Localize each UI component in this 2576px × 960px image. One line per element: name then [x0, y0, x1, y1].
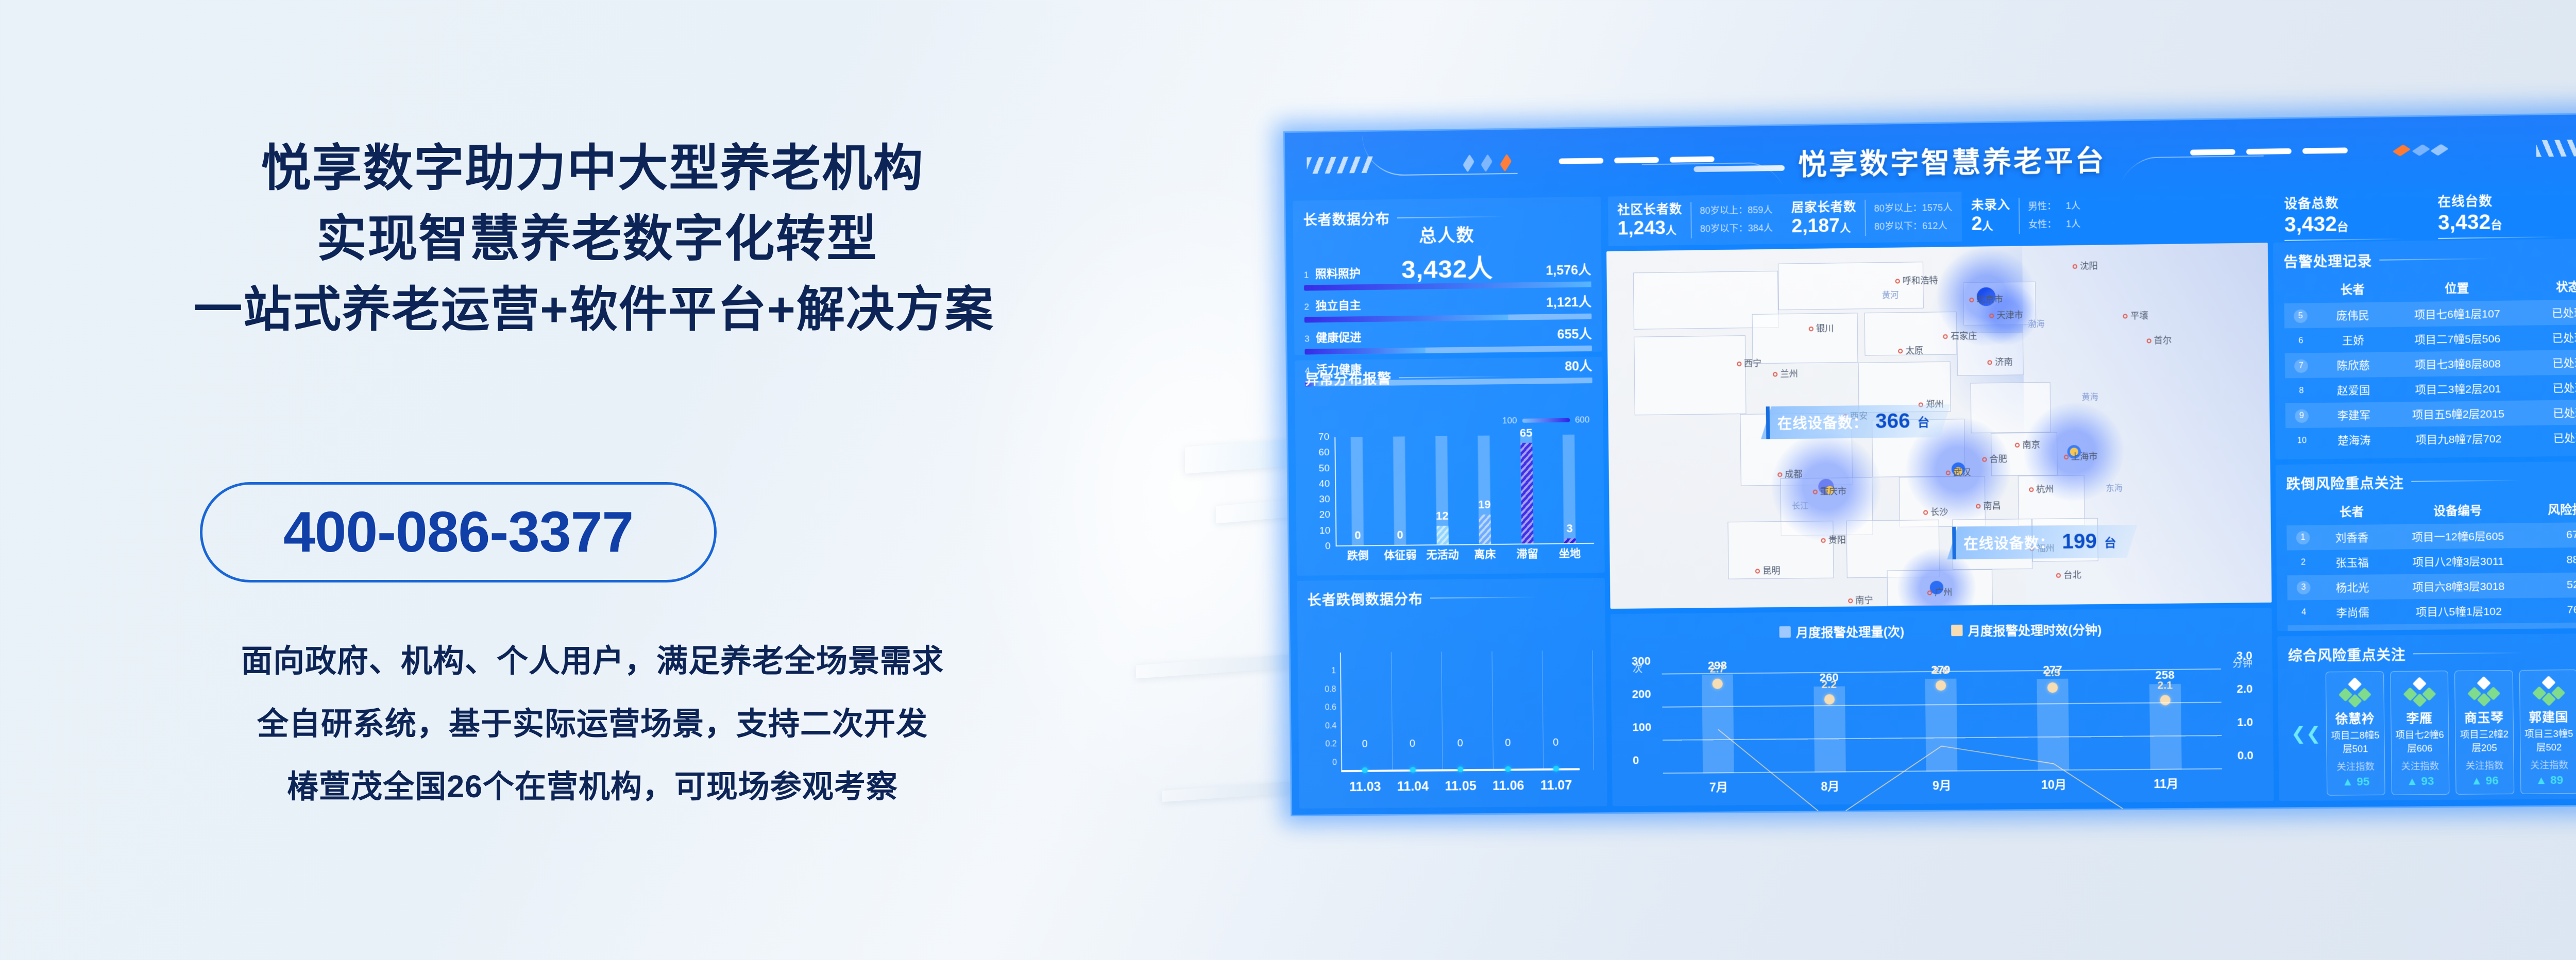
data-point-label: 0 — [1457, 738, 1463, 749]
device-stat: 设备总数3,432台 — [2284, 192, 2403, 237]
stat-sub-line: 80岁以上：1575人 — [1874, 199, 1953, 218]
row-index: 9 — [2285, 403, 2318, 428]
risk-index-label: 关注指数 — [2522, 758, 2575, 772]
map-city-marker-icon — [1773, 372, 1777, 376]
abnormal-alarm-title: 异常分布报警 — [1305, 365, 1592, 389]
x-axis-label: 体征弱 — [1379, 546, 1422, 568]
map-city-label: 南京 — [2015, 437, 2040, 450]
phone-number: 400-086-3377 — [283, 504, 633, 561]
map-city-label: 济南 — [1988, 354, 2013, 368]
map-city-marker-icon — [2146, 339, 2151, 344]
cell-score: 67 — [2531, 522, 2576, 547]
table-column-header: 风险指数 — [2531, 496, 2576, 523]
data-point — [1553, 766, 1559, 772]
bar-value-label: 65 — [1520, 426, 1533, 440]
map-city-marker-icon — [1923, 510, 1928, 515]
map-province — [1752, 313, 1858, 364]
map-city-label: 上海市 — [2064, 449, 2098, 462]
map-city-marker-icon — [2056, 573, 2061, 578]
map-city-marker-icon — [1982, 457, 1987, 462]
combo-column: 2582.1 — [2109, 670, 2222, 770]
y-axis-tick: 40 — [1306, 478, 1330, 490]
table-header-row: 长者位置状态 — [2284, 273, 2576, 303]
data-point — [1505, 766, 1511, 772]
stat-sub: 80岁以上：1575人80岁以下：612人 — [1865, 199, 1953, 236]
cell-name: 秦杉 — [2320, 624, 2386, 631]
y-axis-tick: 30 — [1306, 494, 1330, 505]
comprehensive-risk-item[interactable]: 商玉琴项目三2幢2层205关注指数▲ 96 — [2454, 670, 2514, 795]
line-data-point — [1936, 680, 1946, 690]
y-axis-tick: 50 — [1306, 463, 1330, 475]
map-water-label: 黄河 — [1882, 288, 1899, 301]
combo-column: 2602.2 — [1773, 673, 1886, 773]
x-axis-label: 11月 — [2110, 774, 2222, 792]
risk-index-value: ▲ 95 — [2329, 775, 2382, 788]
x-axis-label: 11.03 — [1349, 780, 1381, 795]
cell-loc: 项目五5幢2层2015 — [2389, 401, 2527, 427]
bar-value-label: 0 — [1397, 528, 1403, 542]
row-index: 8 — [2285, 378, 2318, 403]
abnormal-alarm-barchart: 010203040506070 001219653 跌倒体征弱无活动离床滞留坐地 — [1306, 434, 1594, 569]
map-city-label: 南宁 — [1848, 593, 1873, 606]
map-city-label: 西宁 — [1737, 355, 1762, 369]
table-row[interactable]: 9李建军项目五5幢2层2015已处理 — [2285, 400, 2576, 428]
line-value-label: 2.1 — [2157, 679, 2173, 692]
stat-sub-line: 80岁以下：612人 — [1874, 217, 1953, 236]
row-index: 5 — [2287, 625, 2320, 631]
map-city-marker-icon — [1927, 591, 1932, 595]
cell-status: 已处理 — [2526, 299, 2576, 325]
risk-person-name: 李雁 — [2393, 708, 2446, 726]
cell-device: 项目一12幢6层605 — [2384, 523, 2532, 549]
abnormal-alarm-chart-card: 异常分布报警 100 600 010203040506070 001219653… — [1295, 357, 1605, 576]
y2-axis-tick: 2.0 — [2236, 682, 2252, 696]
map-city-marker-icon — [1969, 298, 1974, 302]
x-axis-label: 坐地 — [1549, 545, 1591, 566]
map-city-marker-icon — [1755, 569, 1760, 574]
map-city-marker-icon — [1737, 362, 1741, 366]
bar-value-label: 12 — [1436, 509, 1449, 523]
risk-index-value: ▲ 89 — [2523, 774, 2576, 787]
cell-score: 88 — [2532, 547, 2576, 573]
badge-accent-bar — [1952, 526, 1956, 559]
risk-person-name: 徐慧衿 — [2329, 708, 2382, 727]
x-axis-label: 10月 — [1998, 775, 2110, 793]
y-axis-tick: 0.4 — [1316, 722, 1336, 731]
table-row[interactable]: 1刘香香项目一12幢6层60567 — [2286, 522, 2576, 550]
stat-sub-line: 男性：1人 — [2028, 197, 2080, 216]
stat-main: 居家长者数2,187人 — [1791, 200, 1857, 236]
legend-swatch-icon — [1780, 626, 1791, 637]
fall-distribution-chart-card: 长者跌倒数据分布 00.20.40.60.81011.03011.04011.0… — [1297, 578, 1607, 809]
x-axis-label: 9月 — [1886, 775, 1998, 794]
map-city-label: 南昌 — [1976, 498, 2001, 511]
cell-status: 已处理 — [2527, 374, 2576, 401]
map-city-marker-icon — [1813, 490, 1818, 494]
map-city-label: 首尔 — [2146, 333, 2172, 346]
grid-line — [1592, 650, 1594, 770]
y-axis-tick: 300 — [1632, 655, 1651, 668]
data-point — [1410, 767, 1415, 773]
risk-index-label: 关注指数 — [2329, 759, 2382, 773]
stat-sub: 男性：1人女性：1人 — [2019, 197, 2081, 234]
cell-status: 已处理 — [2526, 324, 2576, 351]
badge-label: 在线设备数： — [1964, 532, 2055, 553]
comprehensive-risk-item[interactable]: 郭建国项目三3幢5层502关注指数▲ 89 — [2519, 670, 2576, 794]
stat-label: 未录入 — [1971, 198, 2010, 213]
x-axis-label: 11.04 — [1397, 779, 1429, 795]
data-point-label: 0 — [1410, 738, 1415, 750]
y-axis-tick: 200 — [1632, 688, 1651, 701]
x-axis-label: 7月 — [1663, 777, 1775, 796]
map-city-label: 昆明 — [1755, 563, 1781, 576]
risk-person-location: 项目二8幢5层501 — [2329, 728, 2382, 755]
stat-value: 2,187人 — [1791, 214, 1857, 236]
bar-fill — [1925, 679, 1958, 772]
grid-line — [1441, 652, 1443, 771]
fall-risk-title: 跌倒风险重点关注 — [2286, 469, 2576, 493]
cell-name: 赵爱国 — [2317, 377, 2389, 403]
subline-3: 椿萱茂全国26个在营机构，可现场参观考察 — [0, 755, 1185, 818]
table-column-header: 位置 — [2388, 275, 2526, 302]
headline-line-1: 悦享数字助力中大型养老机构 — [0, 133, 1185, 203]
diamond-cluster-icon — [2393, 677, 2446, 706]
map-city-marker-icon — [1989, 314, 1994, 318]
comprehensive-risk-card: 综合风险重点关注 ❮❮ 徐慧衿项目二8幢5层501关注指数▲ 95李雁项目七2幢… — [2277, 633, 2576, 801]
cell-name: 王娇 — [2317, 327, 2389, 353]
y-axis-tick: 0.2 — [1316, 740, 1337, 749]
y-axis-tick: 60 — [1306, 447, 1329, 459]
cell-score: 76 — [2532, 597, 2576, 623]
elder-distribution-card: 长者数据分布 总人数 3,432人 1照料照护1,576人2独立自主1,121人… — [1293, 197, 1602, 355]
badge-unit: 台 — [1918, 413, 1930, 430]
data-point-label: 0 — [1362, 739, 1367, 750]
risk-person-name: 商玉琴 — [2458, 707, 2511, 726]
dashboard-screen: 悦享数字智慧养老平台 长者数据分布 总人数 3,432人 1照料照护1,576人… — [1283, 112, 2576, 816]
badge-value: 199 — [2062, 530, 2097, 554]
row-index: 4 — [2287, 600, 2320, 625]
comprehensive-risk-item[interactable]: 徐慧衿项目二8幢5层501关注指数▲ 95 — [2326, 671, 2385, 795]
badge-unit: 台 — [2104, 533, 2116, 551]
device-stat-label: 设备总数 — [2284, 192, 2403, 212]
bar-fill — [1479, 515, 1491, 544]
map-city-label: 天津市 — [1989, 307, 2023, 321]
map-city-marker-icon — [1821, 538, 1826, 542]
table-row[interactable]: 10楚海涛项目九8幢7层702已处理 — [2285, 424, 2576, 453]
abnormal-alarm-legend: 100 600 — [1502, 415, 1590, 426]
bar-column: 19 — [1463, 435, 1506, 544]
china-map-card[interactable]: 沈阳呼和浩特北京市天津市平壤银川石家庄太原首尔西宁济南兰州郑州西安南京合肥上海市… — [1606, 243, 2272, 609]
row-index: 2 — [2287, 550, 2320, 575]
divider — [2284, 238, 2403, 241]
cell-device: 项目八2幢3层3011 — [2385, 548, 2532, 574]
bar-column: 0 — [1335, 437, 1379, 545]
device-stat-value: 3,432台 — [2438, 210, 2557, 235]
y-axis-tick: 0 — [1633, 754, 1639, 767]
line-data-point — [1824, 694, 1834, 705]
table-header-row: 长者设备编号风险指数 — [2286, 496, 2576, 525]
map-water-label: 渤海 — [2028, 317, 2045, 330]
risk-person-location: 项目三2幢2层205 — [2458, 727, 2511, 754]
table-row[interactable]: 3杨北光项目六8幢3层301852 — [2287, 572, 2576, 601]
table-row[interactable]: 4李尚儒项目八5幢1层10276 — [2287, 597, 2576, 625]
map-city-label: 沈阳 — [2073, 258, 2098, 271]
elder-distribution-title: 长者数据分布 — [1303, 205, 1590, 229]
monthly-alarm-legend: 月度报警处理量(次) 月度报警处理时效(分钟) — [1621, 616, 2262, 642]
elder-name: 健康促进 — [1316, 328, 1361, 345]
y2-axis-tick: 0.0 — [2238, 749, 2253, 762]
x-axis-label: 11.07 — [1540, 778, 1572, 794]
cell-status: 已处理 — [2527, 400, 2576, 425]
legend-swatch-icon — [1951, 624, 1963, 636]
cell-name: 刘香香 — [2319, 524, 2385, 550]
cell-name: 杨北光 — [2320, 574, 2385, 600]
cell-loc: 项目二3幢2层201 — [2389, 375, 2527, 402]
map-city-label: 成都 — [1777, 466, 1803, 479]
table-column-header: 长者 — [2316, 276, 2388, 303]
stat-label: 居家长者数 — [1791, 200, 1857, 215]
line-value-label: 2.2 — [1821, 679, 1837, 691]
bar-column: 0 — [1378, 436, 1421, 545]
risk-index-value: ▲ 93 — [2394, 774, 2447, 788]
stat-main: 未录入2人 — [1971, 198, 2011, 234]
badge-accent-bar — [1766, 407, 1770, 439]
headline-block: 悦享数字助力中大型养老机构 实现智慧养老数字化转型 一站式养老运营+软件平台+解… — [0, 133, 1185, 345]
map-online-device-badge: 在线设备数：199台 — [1947, 525, 2138, 559]
row-index: 10 — [2285, 428, 2318, 453]
map-city-label: 长沙 — [1923, 504, 1948, 518]
map-city-marker-icon — [1895, 279, 1900, 284]
x-axis-label: 11.06 — [1493, 778, 1524, 794]
device-stat-value: 3,432台 — [2284, 212, 2403, 236]
phone-cta-button[interactable]: 400-086-3377 — [200, 482, 717, 582]
cell-loc: 项目二7幢5层506 — [2389, 325, 2527, 352]
map-city-marker-icon — [1777, 472, 1782, 477]
map-city-label: 石家庄 — [1943, 328, 1977, 341]
bar-column: 65 — [1505, 435, 1549, 543]
stat-group: 居家长者数2,187人80岁以上：1575人80岁以下：612人 — [1782, 192, 1962, 244]
map-city-marker-icon — [2073, 264, 2077, 269]
alarm-records-title: 告警处理记录 — [2283, 247, 2576, 271]
device-stat-strip: 设备总数3,432台在线台数3,432台 — [2273, 183, 2576, 237]
bar-fill — [1520, 443, 1533, 544]
bar-column: 3 — [1547, 434, 1591, 543]
grid-line — [1391, 652, 1393, 772]
map-city-label: 贵阳 — [1821, 532, 1846, 545]
device-stat-label: 在线台数 — [2437, 190, 2557, 211]
y-axis-tick: 10 — [1307, 525, 1330, 537]
map-city-label: 台北 — [2056, 568, 2081, 581]
y-axis-tick: 0.8 — [1315, 685, 1336, 694]
table-row[interactable]: 6王娇项目二7幢5层506已处理 — [2284, 324, 2576, 353]
cell-status: 已处理 — [2526, 349, 2576, 375]
map-city-label: 武汉 — [1946, 465, 1971, 478]
headline-line-2: 实现智慧养老数字化转型 — [0, 203, 1185, 274]
stat-group: 社区长者数1,243人80岁以上：859人80岁以下：384人 — [1608, 194, 1783, 246]
y-axis-tick: 20 — [1307, 510, 1330, 521]
comprehensive-risk-item[interactable]: 李雁项目七2幢6层606关注指数▲ 93 — [2390, 671, 2450, 795]
map-city-label: 重庆市 — [1812, 484, 1846, 497]
map-city-label: 北京市 — [1969, 292, 2003, 305]
map-city-label: 银川 — [1809, 321, 1834, 334]
x-axis-label: 无活动 — [1421, 546, 1464, 568]
combo-column: 2772.5 — [1996, 671, 2110, 771]
map-city-label: 平壤 — [2123, 308, 2148, 321]
bar-fill — [1702, 675, 1734, 774]
cell-score: 78 — [2532, 622, 2576, 631]
badge-label: 在线设备数： — [1777, 412, 1868, 433]
row-index: 5 — [2284, 303, 2317, 328]
cell-device: 项目六8幢3层3018 — [2385, 573, 2532, 599]
x-axis-label: 8月 — [1774, 776, 1886, 795]
elder-rank: 3 — [1304, 334, 1316, 344]
bar-value-label: 3 — [1566, 522, 1573, 535]
row-index: 1 — [2286, 525, 2319, 550]
map-water-label: 黄海 — [2081, 389, 2098, 402]
marketing-panel: 悦享数字助力中大型养老机构 实现智慧养老数字化转型 一站式养老运营+软件平台+解… — [0, 0, 1185, 960]
y-axis-tick: 0.6 — [1316, 704, 1336, 713]
map-city-marker-icon — [2015, 442, 2020, 447]
table-row[interactable]: 8赵爱国项目二3幢2层201已处理 — [2285, 374, 2576, 403]
cell-status: 已处理 — [2527, 424, 2576, 450]
bar-fill — [1436, 526, 1448, 544]
elder-bar — [1304, 346, 1592, 355]
fall-distribution-linechart: 00.20.40.60.81011.03011.04011.05011.0601… — [1315, 646, 1594, 801]
stat-label: 社区长者数 — [1617, 203, 1682, 218]
table-column-header — [2284, 277, 2317, 303]
row-index: 7 — [2285, 353, 2318, 378]
bar-fill — [1564, 538, 1575, 543]
table-row[interactable]: 7陈欣慈项目七3幢8层808已处理 — [2285, 349, 2576, 378]
legend-item-volume: 月度报警处理量(次) — [1779, 622, 1904, 641]
cell-name: 李尚儒 — [2320, 599, 2385, 625]
stat-value: 1,243人 — [1618, 216, 1683, 238]
map-city-label: 杭州 — [2029, 482, 2054, 495]
line-value-label: 2.5 — [2045, 667, 2060, 679]
divider — [2438, 236, 2557, 239]
elder-value: 655人 — [1557, 324, 1591, 343]
map-city-label: 兰州 — [1773, 366, 1798, 379]
risk-index-label: 关注指数 — [2458, 758, 2511, 772]
elder-distribution-row: 2独立自主1,121人 — [1304, 292, 1591, 323]
y-axis-tick: 0 — [1307, 541, 1330, 552]
bar-column: 12 — [1420, 436, 1463, 544]
cell-name: 陈欣慈 — [2317, 352, 2389, 378]
map-city-marker-icon — [2064, 455, 2069, 459]
subline-2: 全自研系统，基于实际运营场景，支持二次开发 — [0, 692, 1185, 755]
cell-device: 项目三1幢2层202 — [2385, 623, 2533, 631]
y2-axis-tick: 3.0 — [2236, 649, 2252, 663]
device-stat: 在线台数3,432台 — [2437, 190, 2557, 235]
map-city-marker-icon — [1943, 334, 1948, 338]
table-row[interactable]: 2张玉福项目八2幢3层301188 — [2287, 547, 2576, 575]
cell-score: 52 — [2532, 572, 2576, 598]
bar-value-label: 19 — [1478, 498, 1491, 511]
elder-distribution-row: 1照料照护1,576人 — [1304, 260, 1591, 290]
x-axis-label: 跌倒 — [1337, 547, 1380, 568]
table-column-header: 长者 — [2319, 498, 2384, 525]
bar-value-label: 0 — [1354, 529, 1361, 542]
table-column-header — [2286, 499, 2319, 525]
x-axis-label: 滞留 — [1506, 545, 1549, 567]
line-data-point — [2160, 695, 2171, 705]
grid-line — [1542, 651, 1544, 771]
fall-distribution-title: 长者跌倒数据分布 — [1307, 586, 1595, 609]
cell-name: 张玉福 — [2319, 549, 2385, 575]
map-province — [1634, 335, 1747, 415]
y-axis-tick: 1 — [1315, 667, 1336, 676]
map-city-marker-icon — [1848, 598, 1853, 603]
elder-distribution-row: 3健康促进655人 — [1304, 324, 1592, 355]
legend-max: 600 — [1575, 415, 1590, 425]
data-point-label: 0 — [1553, 737, 1558, 749]
alarm-records-card: 告警处理记录 长者位置状态 5庞伟民项目七6幢1层107已处理6王娇项目二7幢5… — [2273, 238, 2576, 459]
elder-value: 1,576人 — [1546, 260, 1591, 279]
cell-loc: 项目七3幢8层808 — [2389, 350, 2527, 377]
carousel-prev-icon[interactable]: ❮❮ — [2291, 725, 2321, 743]
headline-line-3: 一站式养老运营+软件平台+解决方案 — [0, 274, 1185, 345]
combo-column: 2792.6 — [1885, 672, 1997, 772]
map-city-label: 呼和浩特 — [1895, 273, 1938, 286]
table-row[interactable]: 5庞伟民项目七6幢1层107已处理 — [2284, 299, 2576, 328]
risk-person-location: 项目三3幢5层502 — [2522, 726, 2576, 753]
x-axis-label: 11.05 — [1445, 779, 1477, 794]
subline-1: 面向政府、机构、个人用户，满足养老全场景需求 — [0, 629, 1185, 692]
elder-bar — [1304, 281, 1591, 290]
combo-column: 2982.7 — [1662, 674, 1774, 774]
stat-sub-line: 80岁以下：384人 — [1700, 219, 1773, 238]
diamond-cluster-icon — [2457, 677, 2510, 706]
monthly-alarm-chart-card: 月度报警处理量(次) 月度报警处理时效(分钟) 2982.72602.22792… — [1611, 608, 2274, 806]
legend-item-efficiency: 月度报警处理时效(分钟) — [1951, 620, 2102, 639]
table-column-header: 状态 — [2526, 273, 2576, 301]
grid-line — [1492, 651, 1494, 770]
comprehensive-risk-title: 综合风险重点关注 — [2288, 642, 2576, 665]
map-city-marker-icon — [2029, 487, 2033, 492]
elder-rank: 2 — [1304, 302, 1315, 312]
cell-name: 庞伟民 — [2317, 302, 2389, 328]
diamond-cluster-icon — [2328, 678, 2381, 706]
badge-value: 366 — [1875, 410, 1910, 434]
table-column-header: 设备编号 — [2384, 496, 2532, 524]
y-axis-tick: 0 — [1316, 758, 1337, 767]
legend-min: 100 — [1502, 416, 1517, 426]
stat-sub-line: 女性：1人 — [2028, 215, 2081, 234]
cell-loc: 项目九8幢7层702 — [2390, 425, 2528, 452]
stat-value: 2人 — [1971, 212, 2010, 234]
elder-bar — [1304, 314, 1592, 323]
map-water-label: 东海 — [2106, 481, 2123, 494]
subline-block: 面向政府、机构、个人用户，满足养老全场景需求 全自研系统，基于实际运营场景，支持… — [0, 629, 1185, 818]
elder-value: 1,121人 — [1546, 292, 1591, 311]
x-axis-label: 离床 — [1464, 546, 1506, 567]
map-city-label: 太原 — [1898, 343, 1923, 356]
elder-name: 照料照护 — [1315, 264, 1361, 281]
map-online-device-badge: 在线设备数：366台 — [1761, 405, 1950, 439]
data-point-label: 0 — [1505, 737, 1511, 749]
alarm-records-table: 长者位置状态 5庞伟民项目七6幢1层107已处理6王娇项目二7幢5层506已处理… — [2284, 273, 2576, 453]
elder-rank: 1 — [1304, 270, 1315, 280]
elder-name: 独立自主 — [1315, 296, 1361, 313]
legend-gradient-icon — [1522, 418, 1570, 423]
line-data-point — [1713, 679, 1723, 689]
diamond-cluster-icon — [2522, 676, 2575, 705]
map-water-label: 长江 — [1792, 499, 1809, 511]
map-city-marker-icon — [1898, 349, 1903, 353]
stat-main: 社区长者数1,243人 — [1617, 203, 1683, 239]
monthly-alarm-combochart: 2982.72602.22792.62772.52582.1 7月8月9月10月… — [1625, 656, 2259, 799]
cell-name: 李建军 — [2318, 402, 2390, 428]
